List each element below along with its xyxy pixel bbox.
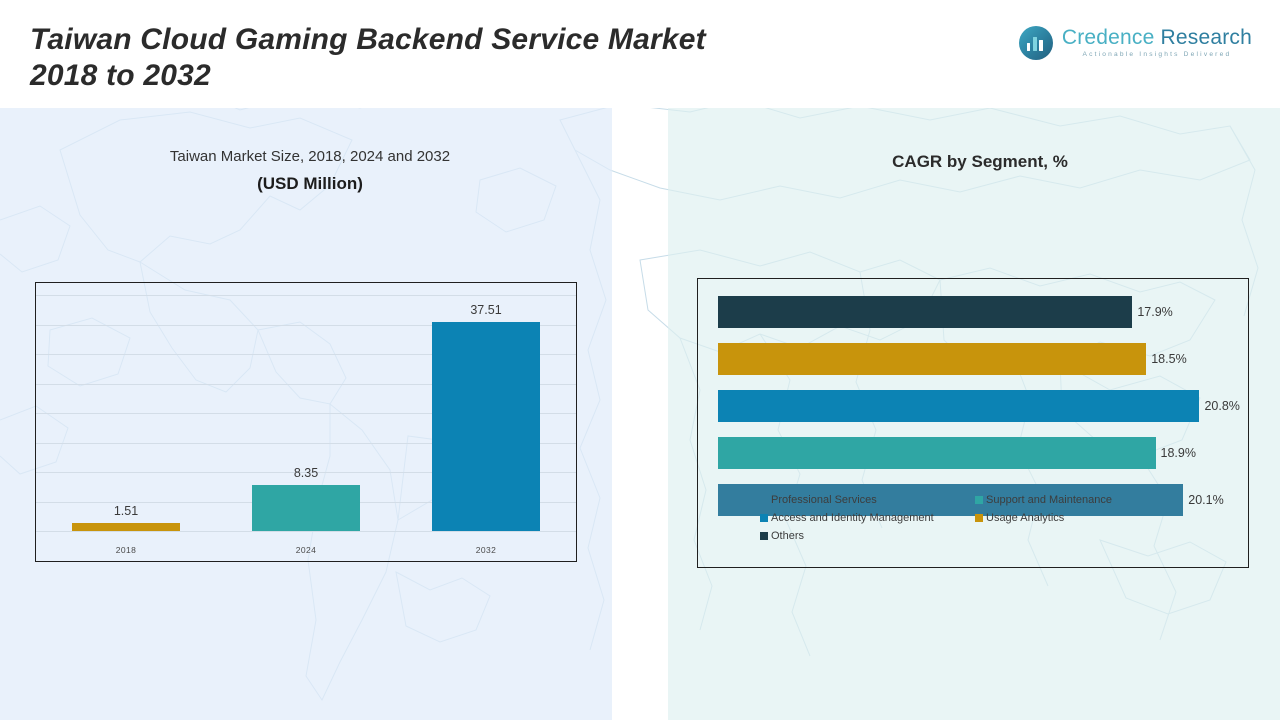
bar-column[interactable]: 8.35	[216, 291, 396, 531]
header-bar: Taiwan Cloud Gaming Backend Service Mark…	[0, 0, 1280, 108]
bar[interactable]	[72, 523, 180, 531]
bar-column[interactable]: 37.51	[396, 291, 576, 531]
legend-row: Access and Identity ManagementUsage Anal…	[760, 512, 1240, 524]
horizontal-bar-row[interactable]: 18.5%	[718, 342, 1242, 376]
legend-swatch-icon	[975, 496, 983, 504]
logo-name: Credence Research	[1062, 27, 1252, 48]
legend-item[interactable]: Others	[760, 530, 975, 542]
credence-bar-chart-icon	[1019, 26, 1053, 60]
bar-value-label: 18.9%	[1161, 446, 1196, 460]
horizontal-bar-row[interactable]: 17.9%	[718, 295, 1242, 329]
bar[interactable]	[252, 485, 360, 531]
x-axis-label: 2018	[36, 545, 216, 555]
x-axis-label: 2024	[216, 545, 396, 555]
chart-legend: Professional ServicesSupport and Mainten…	[760, 494, 1240, 548]
page-title: Taiwan Cloud Gaming Backend Service Mark…	[30, 22, 930, 94]
infographic-root: Taiwan Cloud Gaming Backend Service Mark…	[0, 0, 1280, 720]
left-chart-title-line2: (USD Million)	[30, 174, 590, 194]
gridline	[36, 531, 576, 532]
legend-swatch-icon	[975, 514, 983, 522]
legend-item[interactable]: Usage Analytics	[975, 512, 1064, 524]
legend-row: Others	[760, 530, 1240, 542]
bar[interactable]	[718, 437, 1156, 469]
left-chart-title-line1: Taiwan Market Size, 2018, 2024 and 2032	[30, 148, 590, 165]
page-title-line1: Taiwan Cloud Gaming Backend Service Mark…	[30, 23, 706, 56]
page-title-line2: 2018 to 2032	[30, 58, 930, 94]
legend-label: Usage Analytics	[986, 512, 1064, 524]
legend-label: Access and Identity Management	[771, 512, 934, 524]
market-size-bar-chart: 1.518.3537.51 201820242032	[35, 282, 577, 562]
left-chart-title: Taiwan Market Size, 2018, 2024 and 2032 …	[30, 148, 590, 194]
legend-swatch-icon	[760, 496, 768, 504]
bar-value-label: 8.35	[294, 466, 318, 480]
horizontal-bar-row[interactable]: 20.8%	[718, 389, 1242, 423]
legend-swatch-icon	[760, 532, 768, 540]
x-axis-labels: 201820242032	[36, 545, 576, 555]
logo-bars	[1027, 37, 1043, 51]
bar-value-label: 18.5%	[1151, 352, 1186, 366]
legend-label: Support and Maintenance	[986, 494, 1112, 506]
bar-value-label: 37.51	[470, 303, 501, 317]
cagr-by-segment-chart: 17.9%18.5%20.8%18.9%20.1% Professional S…	[697, 278, 1249, 568]
bar-columns: 1.518.3537.51	[36, 291, 576, 531]
legend-label: Others	[771, 530, 804, 542]
bar[interactable]	[432, 322, 540, 531]
bar-value-label: 20.8%	[1204, 399, 1239, 413]
logo-name-part1: Credence	[1062, 26, 1155, 49]
legend-item[interactable]: Access and Identity Management	[760, 512, 975, 524]
logo-name-part2: Research	[1154, 26, 1252, 49]
bar[interactable]	[718, 296, 1132, 328]
logo-tagline: Actionable Insights Delivered	[1062, 52, 1252, 59]
legend-item[interactable]: Professional Services	[760, 494, 975, 506]
bar[interactable]	[718, 390, 1199, 422]
legend-swatch-icon	[760, 514, 768, 522]
horizontal-bar-row[interactable]: 18.9%	[718, 436, 1242, 470]
bar-column[interactable]: 1.51	[36, 291, 216, 531]
credence-research-logo[interactable]: Credence Research Actionable Insights De…	[1019, 26, 1252, 60]
legend-label: Professional Services	[771, 494, 877, 506]
bar-value-label: 17.9%	[1137, 305, 1172, 319]
logo-text: Credence Research Actionable Insights De…	[1062, 27, 1252, 59]
bar[interactable]	[718, 343, 1146, 375]
x-axis-label: 2032	[396, 545, 576, 555]
legend-row: Professional ServicesSupport and Mainten…	[760, 494, 1240, 506]
legend-item[interactable]: Support and Maintenance	[975, 494, 1112, 506]
right-chart-title: CAGR by Segment, %	[700, 152, 1260, 172]
bar-value-label: 1.51	[114, 504, 138, 518]
